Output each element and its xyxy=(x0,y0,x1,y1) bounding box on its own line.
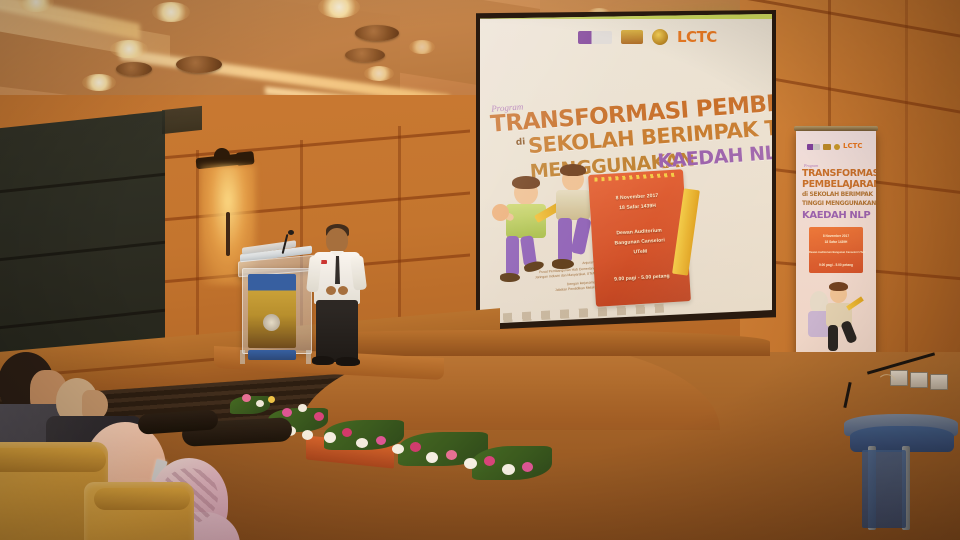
lectern-group xyxy=(236,240,396,380)
ceiling-speaker-4 xyxy=(345,48,385,62)
ceiling-speaker-3 xyxy=(355,25,399,41)
flower-11 xyxy=(356,438,368,448)
flower-17 xyxy=(464,458,477,469)
flower-5 xyxy=(298,404,307,412)
downlight-7 xyxy=(364,66,394,81)
flower-10 xyxy=(342,428,352,437)
banner-title-3: di SEKOLAH BERIMPAK xyxy=(802,191,873,198)
banner-info-panel: 8 November 2017 18 Safar 1439H Dewan Aud… xyxy=(809,227,863,273)
flower-12 xyxy=(376,436,386,445)
slide-info-panel-dots xyxy=(594,173,677,182)
banner-title-1: TRANSFORMASI xyxy=(802,168,876,179)
banner-title-accent: KAEDAH NLP xyxy=(802,210,870,221)
ceiling-speaker-2 xyxy=(116,62,152,76)
flower-9 xyxy=(324,432,336,443)
right-wall-seam-v2 xyxy=(905,0,908,380)
side-table-group xyxy=(840,390,960,540)
presenter-arm-right xyxy=(350,255,367,290)
flower-20 xyxy=(522,462,533,472)
downlight-5 xyxy=(82,74,116,91)
presenter-trousers xyxy=(316,300,358,362)
side-table-panel xyxy=(862,450,906,528)
lectern-base xyxy=(248,350,296,360)
lectern-front-panel xyxy=(248,274,296,348)
flower-18 xyxy=(484,456,495,466)
illustration-hair-3 xyxy=(560,164,586,176)
projection-screen: LCTC Program TRANSFORMASI PEMBELAJARAN d… xyxy=(480,14,772,324)
banner-figure-leg-2 xyxy=(840,320,858,344)
flower-14 xyxy=(410,442,421,452)
presenter-hand-right xyxy=(338,286,348,295)
banner-illustration xyxy=(806,277,868,357)
banner-date: 8 November 2017 xyxy=(809,234,863,238)
banner-figure-leg-1 xyxy=(828,325,838,351)
banner-time: 9.00 pagi - 5.00 petang xyxy=(809,263,863,267)
banner-figure-hair-2 xyxy=(829,282,848,291)
acoustic-panel-top xyxy=(162,106,202,134)
illustration-head-2 xyxy=(492,204,509,221)
flower-2 xyxy=(256,400,264,407)
slide-date-hijri: 18 Safar 1439H xyxy=(590,201,685,213)
downlight-4 xyxy=(110,40,148,58)
flower-15 xyxy=(426,452,438,463)
banner-date-hijri: 18 Safar 1439H xyxy=(809,240,863,244)
flower-4 xyxy=(282,408,292,417)
illustration-leg-3 xyxy=(558,218,572,262)
downlight-2 xyxy=(152,2,190,22)
banner-title-4: TINGGI MENGGUNAKAN xyxy=(802,200,876,207)
downlight-8 xyxy=(409,40,435,54)
illustration-leg-4 xyxy=(570,217,591,255)
banner-lctc-logo: LCTC xyxy=(843,143,863,150)
presenter-head xyxy=(326,228,348,253)
illustration-hair-1 xyxy=(512,176,540,189)
banner-utem-logo xyxy=(807,144,820,150)
banner-logo-row: LCTC xyxy=(807,143,863,150)
flower-13 xyxy=(392,444,404,454)
flower-8 xyxy=(302,430,313,440)
flower-6 xyxy=(314,412,324,421)
presenter-shoe-left xyxy=(312,356,334,365)
presenter-hand-left xyxy=(326,286,336,295)
flower-19 xyxy=(502,464,515,475)
wall-sconce-body xyxy=(226,212,230,256)
seat-armrest-1 xyxy=(0,448,106,472)
lectern-microphone-head xyxy=(288,230,294,235)
ceiling-speaker-1 xyxy=(176,56,222,73)
flower-3 xyxy=(268,396,275,403)
auditorium-photo: LCTC Program TRANSFORMASI PEMBELAJARAN d… xyxy=(0,0,960,540)
banner-seal-logo xyxy=(834,144,840,150)
banner-venue: Dewan Auditorium Bangunan Canselori UTeM xyxy=(809,251,863,254)
lectern-emblem xyxy=(263,314,280,331)
banner-pencil xyxy=(846,296,864,310)
presenter-shoe-right xyxy=(336,357,360,366)
wall-outlet-3 xyxy=(930,374,948,390)
wall-outlet-2 xyxy=(910,372,928,388)
slide-title-line-2-prefix: di xyxy=(515,137,525,148)
flower-16 xyxy=(446,450,457,460)
presenter xyxy=(306,224,396,372)
illustration-body-3 xyxy=(556,190,590,220)
banner-jata-logo xyxy=(823,144,831,150)
slide-info-panel: 8 November 2017 18 Safar 1439H Dewan Aud… xyxy=(588,169,691,307)
stage-spotlight-2 xyxy=(235,151,254,166)
banner-title-2: PEMBELAJARAN xyxy=(802,179,876,190)
seat-armrest-2 xyxy=(94,488,190,510)
